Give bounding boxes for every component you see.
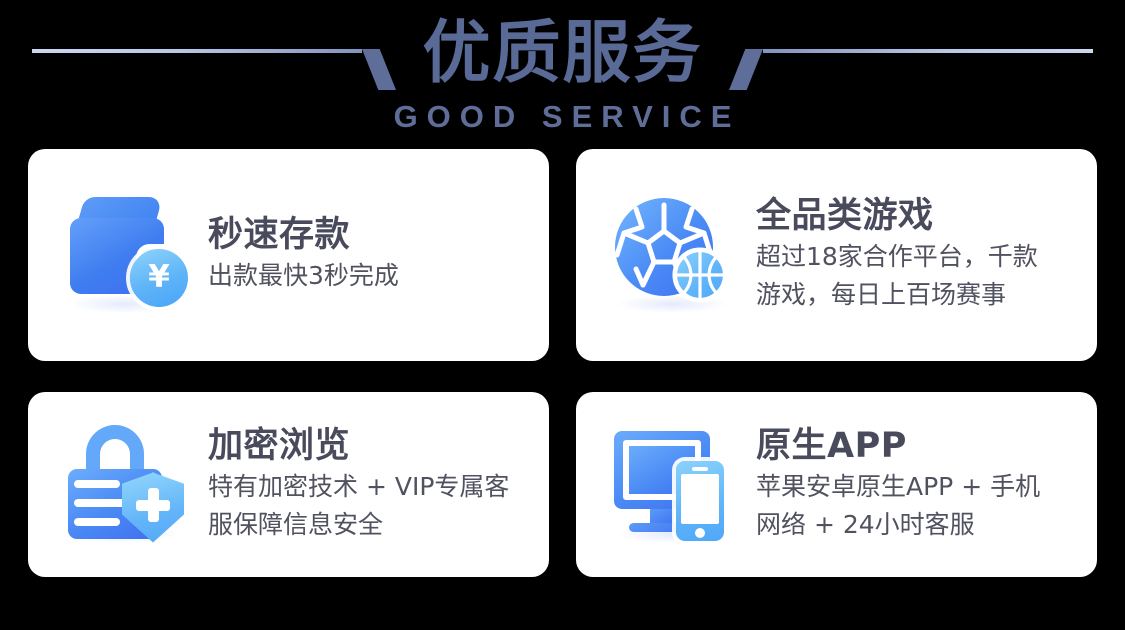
shield-cross-icon <box>148 488 159 522</box>
page-subtitle: GOOD SERVICE <box>0 100 1125 134</box>
card-title: 加密浏览 <box>208 424 509 468</box>
card-text: 全品类游戏 超过18家合作平台，千款 游戏，每日上百场赛事 <box>756 194 1038 316</box>
header-title-block: 优质服务 GOOD SERVICE <box>0 0 1125 134</box>
feature-card-native-app[interactable]: 原生APP 苹果安卓原生APP + 手机 网络 + 24小时客服 <box>576 392 1097 577</box>
phone-speaker <box>692 467 708 471</box>
card-title: 秒速存款 <box>208 213 399 257</box>
feature-card-deposit[interactable]: ¥ 秒速存款 出款最快3秒完成 <box>28 149 549 361</box>
lock-slot-line <box>74 480 120 488</box>
service-feature-banner: 优质服务 GOOD SERVICE ¥ 秒速存款 出款最快3秒完成 <box>0 0 1125 630</box>
phone-screen <box>681 474 719 524</box>
card-description-line: 超过18家合作平台，千款 <box>756 238 1038 276</box>
card-description-line: 网络 + 24小时客服 <box>756 506 1040 544</box>
card-description-line: 出款最快3秒完成 <box>208 257 399 295</box>
card-text: 秒速存款 出款最快3秒完成 <box>208 213 399 297</box>
lock-shield-icon <box>62 421 192 549</box>
basketball-icon <box>672 247 728 303</box>
card-description-line: 特有加密技术 + VIP专属客 <box>208 468 509 506</box>
card-title: 原生APP <box>756 424 1040 468</box>
phone-home-button <box>695 528 705 538</box>
card-title: 全品类游戏 <box>756 194 1038 238</box>
feature-card-grid: ¥ 秒速存款 出款最快3秒完成 <box>28 149 1097 577</box>
lock-slot-line <box>74 518 120 526</box>
card-text: 原生APP 苹果安卓原生APP + 手机 网络 + 24小时客服 <box>756 424 1040 546</box>
monitor-phone-icon <box>610 421 740 549</box>
banner-header: 优质服务 GOOD SERVICE <box>0 0 1125 140</box>
card-description-line: 服保障信息安全 <box>208 506 509 544</box>
yen-coin-icon: ¥ <box>130 249 188 307</box>
page-title: 优质服务 <box>0 0 1125 100</box>
card-text: 加密浏览 特有加密技术 + VIP专属客 服保障信息安全 <box>208 424 509 546</box>
phone-icon <box>676 461 724 541</box>
card-description-line: 苹果安卓原生APP + 手机 <box>756 468 1040 506</box>
yen-symbol: ¥ <box>148 262 170 293</box>
soccer-basketball-icon <box>610 191 740 319</box>
feature-card-games[interactable]: 全品类游戏 超过18家合作平台，千款 游戏，每日上百场赛事 <box>576 149 1097 361</box>
wallet-yen-icon: ¥ <box>62 191 192 319</box>
feature-card-encryption[interactable]: 加密浏览 特有加密技术 + VIP专属客 服保障信息安全 <box>28 392 549 577</box>
card-description-line: 游戏，每日上百场赛事 <box>756 276 1038 314</box>
